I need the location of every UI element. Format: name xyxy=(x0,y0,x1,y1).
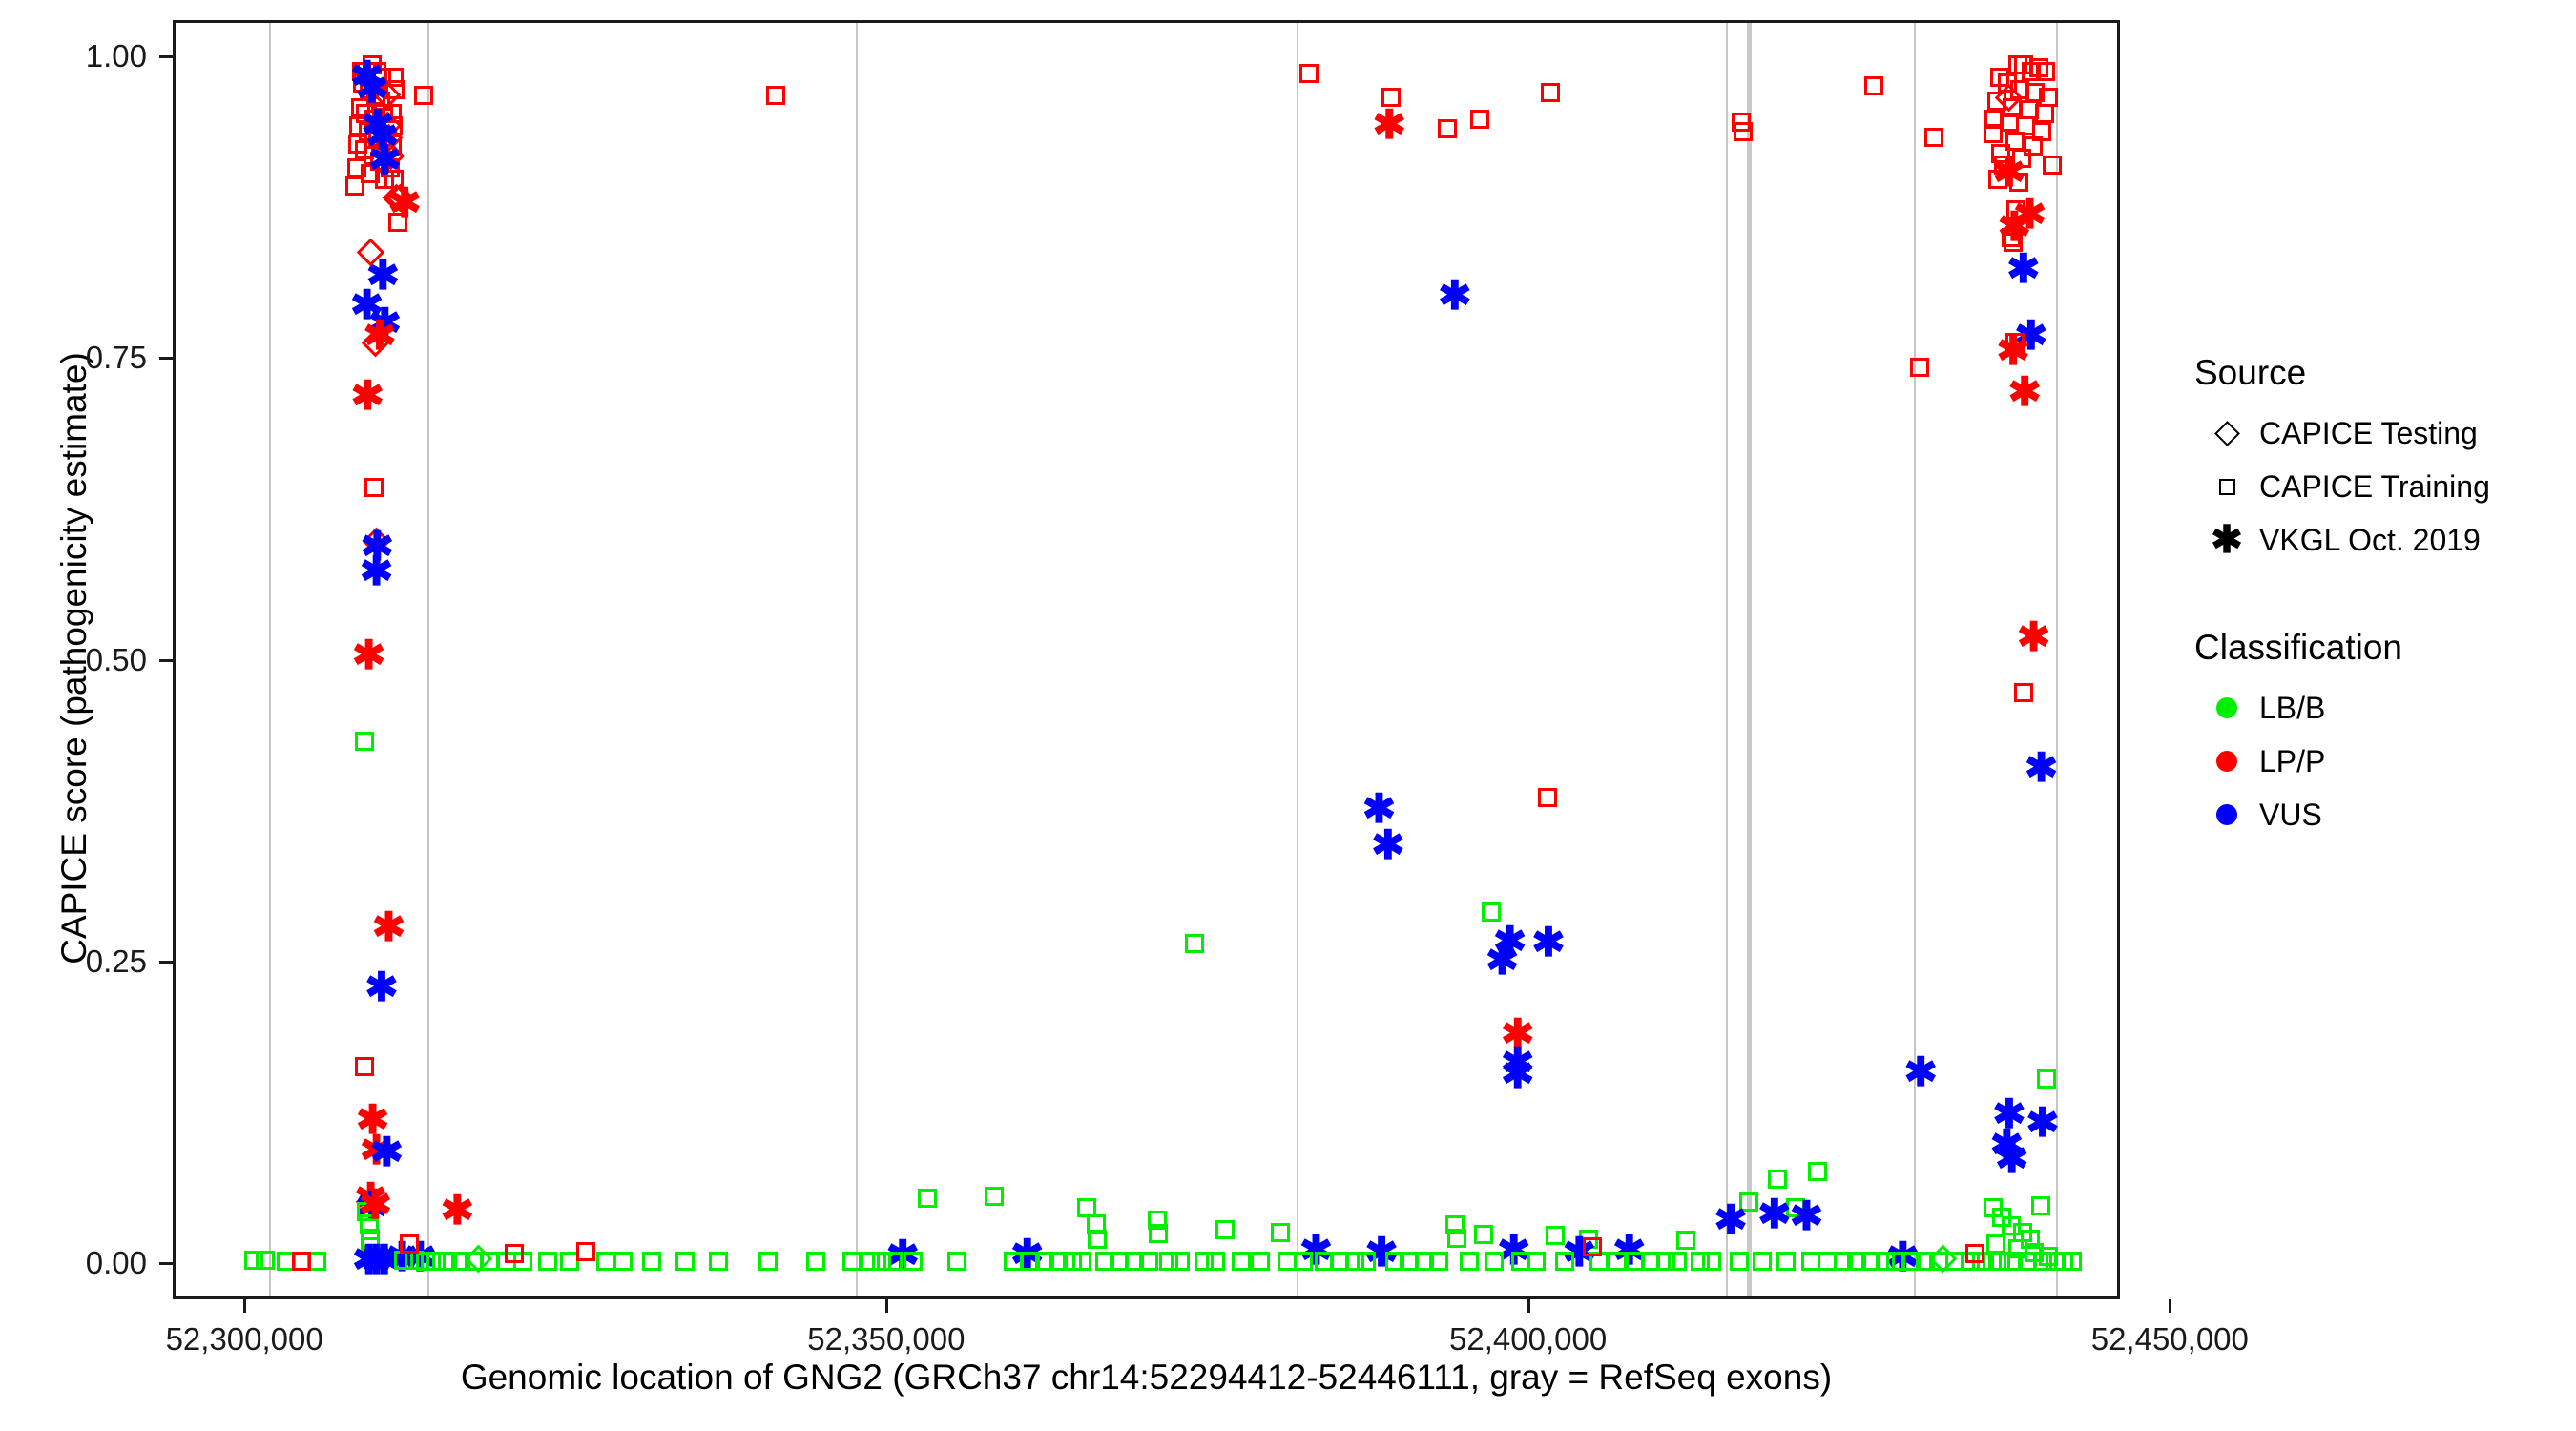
data-point-square xyxy=(1864,76,1883,95)
data-point-square xyxy=(1608,1252,1627,1271)
x-tick-label: 52,450,000 xyxy=(2026,1320,2313,1358)
y-tick-label: 0.75 xyxy=(23,342,147,374)
data-point-asterisk: ✱ xyxy=(2006,249,2033,289)
data-point-square xyxy=(1485,1252,1504,1271)
data-point-asterisk: ✱ xyxy=(1996,331,2023,371)
data-point-square xyxy=(1808,1162,1827,1181)
chart-root: CAPICE score (pathogenicity estimate) 0.… xyxy=(0,0,2576,1431)
data-point-square xyxy=(904,1252,923,1271)
data-point-asterisk: ✱ xyxy=(370,1132,397,1172)
legend-item-classification-1[interactable]: LP/P xyxy=(2194,735,2566,788)
data-point-square xyxy=(355,732,374,751)
data-point-square xyxy=(256,1251,275,1270)
square-icon xyxy=(2194,479,2259,495)
data-point-square xyxy=(1088,1230,1107,1249)
data-point-square xyxy=(1149,1224,1168,1243)
data-point-asterisk: ✱ xyxy=(351,376,378,416)
data-point-asterisk: ✱ xyxy=(364,967,391,1007)
data-point-square xyxy=(1294,1252,1313,1271)
x-tick-mark xyxy=(243,1299,246,1313)
data-point-square xyxy=(345,176,364,196)
legend-key-dot xyxy=(2216,804,2237,825)
color-dot-icon xyxy=(2194,697,2259,718)
diamond-icon xyxy=(2194,425,2259,443)
y-tick-label: 0.50 xyxy=(23,644,147,676)
legend-item-source-2[interactable]: ✱VKGL Oct. 2019 xyxy=(2194,513,2566,567)
x-tick-mark xyxy=(1527,1299,1530,1313)
data-point-square xyxy=(355,1057,374,1076)
data-point-asterisk: ✱ xyxy=(352,1240,379,1280)
legend-item-label: CAPICE Training xyxy=(2259,469,2490,505)
data-point-square xyxy=(1527,1252,1546,1271)
exon-gridline xyxy=(856,23,858,1296)
data-point-square xyxy=(364,478,384,497)
x-tick-label: 52,400,000 xyxy=(1385,1320,1672,1358)
data-point-square xyxy=(1215,1220,1235,1239)
y-tick-label: 1.00 xyxy=(23,40,147,73)
data-point-square xyxy=(1538,788,1557,807)
data-point-square xyxy=(1965,1244,1984,1263)
color-dot-icon xyxy=(2194,751,2259,772)
data-point-square xyxy=(642,1252,661,1271)
data-point-square xyxy=(1474,1225,1493,1244)
data-point-square xyxy=(1988,170,2007,189)
data-point-square xyxy=(2014,683,2033,702)
data-point-square xyxy=(1438,119,1457,138)
legend-item-label: VKGL Oct. 2019 xyxy=(2259,523,2481,558)
legend-key-dot xyxy=(2216,697,2237,718)
data-point-square xyxy=(1776,1252,1796,1271)
data-point-square xyxy=(1251,1252,1270,1271)
legend-key-dot xyxy=(2216,751,2237,772)
data-point-square xyxy=(675,1252,695,1271)
legend-item-source-1[interactable]: CAPICE Training xyxy=(2194,460,2566,513)
data-point-square xyxy=(1541,83,1560,102)
data-point-square xyxy=(1460,1252,1479,1271)
y-tick-mark xyxy=(159,659,173,662)
data-point-square xyxy=(2063,1252,2082,1271)
exon-gridline xyxy=(1914,23,1916,1296)
y-tick-mark xyxy=(159,961,173,964)
data-point-asterisk: ✱ xyxy=(359,1185,385,1225)
asterisk-icon: ✱ xyxy=(2194,521,2259,559)
data-point-square xyxy=(2043,156,2062,175)
data-point-square xyxy=(1139,1252,1158,1271)
data-point-asterisk: ✱ xyxy=(1501,1054,1527,1094)
data-point-square xyxy=(1429,1252,1448,1271)
x-tick-label: 52,300,000 xyxy=(101,1320,387,1358)
y-tick-label: 0.00 xyxy=(23,1247,147,1279)
data-point-square xyxy=(1072,1252,1091,1271)
data-point-square xyxy=(766,86,785,105)
data-point-square xyxy=(1470,110,1489,129)
data-point-square xyxy=(1271,1223,1290,1242)
x-tick-label: 52,350,000 xyxy=(743,1320,1029,1358)
data-point-square xyxy=(1299,64,1319,83)
exon-gridline xyxy=(427,23,429,1296)
data-point-square xyxy=(1357,1252,1376,1271)
data-point-asterisk: ✱ xyxy=(1714,1200,1740,1240)
data-point-square xyxy=(2031,1196,2050,1215)
data-point-square xyxy=(505,1244,524,1263)
color-dot-icon xyxy=(2194,804,2259,825)
exon-gridline xyxy=(1726,23,1728,1296)
data-point-square xyxy=(883,1252,903,1271)
legend-item-source-0[interactable]: CAPICE Testing xyxy=(2194,406,2566,460)
data-point-square xyxy=(1185,934,1204,953)
legend-item-label: LP/P xyxy=(2259,744,2325,779)
data-point-square xyxy=(947,1252,966,1271)
data-point-asterisk: ✱ xyxy=(2025,1103,2052,1143)
data-point-square xyxy=(400,1234,419,1254)
data-point-square xyxy=(918,1189,937,1208)
data-point-asterisk: ✱ xyxy=(1995,1139,2022,1179)
legend-key-glyph: ✱ xyxy=(2211,521,2243,559)
data-point-square xyxy=(1583,1237,1602,1256)
data-point-square xyxy=(1734,122,1753,141)
y-tick-mark xyxy=(159,55,173,58)
legend: Source CAPICE TestingCAPICE Training✱VKG… xyxy=(2194,353,2566,841)
y-tick-label: 0.25 xyxy=(23,945,147,978)
data-point-asterisk: ✱ xyxy=(1531,923,1558,963)
legend-title-classification: Classification xyxy=(2194,628,2566,668)
data-point-square xyxy=(2036,62,2055,81)
data-point-square xyxy=(2035,104,2054,123)
data-point-asterisk: ✱ xyxy=(360,551,386,591)
data-point-square xyxy=(842,1252,862,1271)
data-point-square xyxy=(1668,1252,1687,1271)
legend-key-glyph xyxy=(2219,479,2235,495)
data-point-square xyxy=(613,1252,633,1271)
data-point-square xyxy=(1447,1229,1466,1248)
legend-item-classification-0[interactable]: LB/B xyxy=(2194,681,2566,735)
exon-gridline xyxy=(1297,23,1298,1296)
legend-item-label: VUS xyxy=(2259,798,2322,833)
y-tick-mark xyxy=(159,1262,173,1265)
data-point-square xyxy=(576,1242,595,1261)
data-point-asterisk: ✱ xyxy=(1373,105,1400,145)
data-point-asterisk: ✱ xyxy=(368,140,395,180)
plot-area: ✱✱✱✱✱✱✱✱✱✱✱✱✱✱✱✱✱✱✱✱✱✱✱✱✱✱✱✱✱✱✱✱✱✱✱✱✱✱✱✱… xyxy=(176,23,2117,1296)
data-point-square xyxy=(1702,1252,1721,1271)
data-point-square xyxy=(1924,128,1943,147)
data-point-asterisk: ✱ xyxy=(352,635,379,675)
data-point-asterisk: ✱ xyxy=(2008,372,2035,412)
data-point-square xyxy=(596,1252,615,1271)
x-tick-mark xyxy=(2169,1299,2171,1313)
legend-item-classification-2[interactable]: VUS xyxy=(2194,788,2566,841)
data-point-square xyxy=(709,1252,728,1271)
data-point-square xyxy=(1753,1252,1772,1271)
exon-gridline xyxy=(1747,23,1752,1296)
data-point-square xyxy=(1676,1231,1695,1250)
data-point-asterisk: ✱ xyxy=(1757,1194,1784,1234)
data-point-square xyxy=(292,1252,311,1271)
data-point-asterisk: ✱ xyxy=(2025,748,2051,788)
data-point-square xyxy=(1555,1252,1574,1271)
legend-group-source: CAPICE TestingCAPICE Training✱VKGL Oct. … xyxy=(2194,406,2566,567)
x-axis-title: Genomic location of GNG2 (GRCh37 chr14:5… xyxy=(173,1355,2120,1400)
legend-group-classification: LB/BLP/PVUS xyxy=(2194,681,2566,841)
data-point-square xyxy=(1984,124,2003,143)
data-point-square xyxy=(1232,1252,1251,1271)
data-point-square xyxy=(1206,1252,1225,1271)
data-point-square xyxy=(538,1252,557,1271)
data-point-asterisk: ✱ xyxy=(1485,941,1512,981)
legend-item-label: CAPICE Testing xyxy=(2259,416,2478,451)
data-point-square xyxy=(1171,1252,1190,1271)
data-point-asterisk: ✱ xyxy=(1790,1196,1817,1236)
data-point-square xyxy=(388,213,407,232)
legend-key-glyph xyxy=(2214,421,2240,446)
data-point-asterisk: ✱ xyxy=(1904,1052,1931,1092)
data-point-square xyxy=(758,1252,778,1271)
data-point-asterisk: ✱ xyxy=(1371,825,1398,865)
data-point-asterisk: ✱ xyxy=(1438,276,1465,316)
data-point-square xyxy=(1768,1170,1787,1189)
data-point-square xyxy=(1910,358,1929,377)
data-point-asterisk: ✱ xyxy=(441,1191,467,1231)
y-tick-mark xyxy=(159,357,173,360)
plot-panel: ✱✱✱✱✱✱✱✱✱✱✱✱✱✱✱✱✱✱✱✱✱✱✱✱✱✱✱✱✱✱✱✱✱✱✱✱✱✱✱✱… xyxy=(173,20,2120,1299)
data-point-asterisk: ✱ xyxy=(2017,617,2044,657)
data-point-square xyxy=(414,86,433,105)
legend-item-label: LB/B xyxy=(2259,691,2325,726)
data-point-square xyxy=(2009,173,2028,192)
legend-title-source: Source xyxy=(2194,353,2566,393)
exon-gridline xyxy=(269,23,271,1296)
data-point-square xyxy=(806,1252,825,1271)
data-point-square xyxy=(1730,1252,1749,1271)
x-tick-mark xyxy=(885,1299,888,1313)
data-point-square xyxy=(985,1187,1004,1206)
data-point-square xyxy=(2037,1069,2056,1089)
data-point-asterisk: ✱ xyxy=(372,907,399,947)
